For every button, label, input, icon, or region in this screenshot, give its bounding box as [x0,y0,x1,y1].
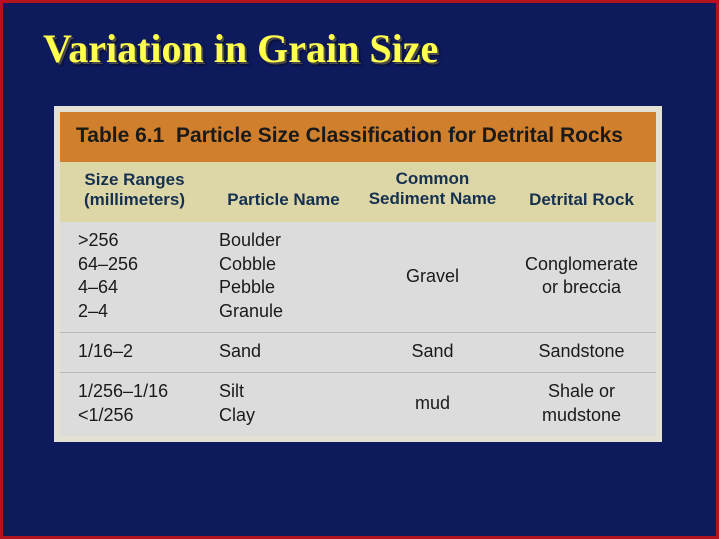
cell-detrital-rock: Conglomerate or breccia [507,222,656,333]
cell-size-ranges: 1/256–1/16 <1/256 [60,373,209,436]
table-caption-text: Particle Size Classification for Detrita… [176,124,623,147]
cell-detrital-rock: Shale or mudstone [507,373,656,436]
column-header-particle-name: Particle Name [209,162,358,222]
cell-size-ranges: 1/16–2 [60,333,209,373]
cell-common-sediment-name: Gravel [358,222,507,333]
particle-size-table: Table 6.1 Particle Size Classification f… [60,112,656,436]
column-header-detrital-rock: Detrital Rock [507,162,656,222]
table-row: >256 64–256 4–64 2–4 Boulder Cobble Pebb… [60,222,656,333]
cell-detrital-rock: Sandstone [507,333,656,373]
column-header-size-ranges: Size Ranges (millimeters) [60,162,209,222]
table-row: 1/256–1/16 <1/256 Silt Clay mud Shale or… [60,373,656,436]
table-header-row: Size Ranges (millimeters) Particle Name … [60,162,656,222]
cell-particle-name: Sand [209,333,358,373]
slide-frame: Variation in Grain Size Table 6.1 Partic… [0,0,719,539]
table-caption-label: Table 6.1 [76,124,164,147]
cell-particle-name: Silt Clay [209,373,358,436]
cell-size-ranges: >256 64–256 4–64 2–4 [60,222,209,333]
table-row: 1/16–2 Sand Sand Sandstone [60,333,656,373]
table-caption: Table 6.1 Particle Size Classification f… [60,112,656,162]
page-title: Variation in Grain Size [43,25,438,72]
particle-size-table-container: Table 6.1 Particle Size Classification f… [54,106,662,442]
cell-common-sediment-name: mud [358,373,507,436]
column-header-common-sediment-name: Common Sediment Name [358,162,507,222]
cell-common-sediment-name: Sand [358,333,507,373]
table-caption-row: Table 6.1 Particle Size Classification f… [60,112,656,162]
cell-particle-name: Boulder Cobble Pebble Granule [209,222,358,333]
